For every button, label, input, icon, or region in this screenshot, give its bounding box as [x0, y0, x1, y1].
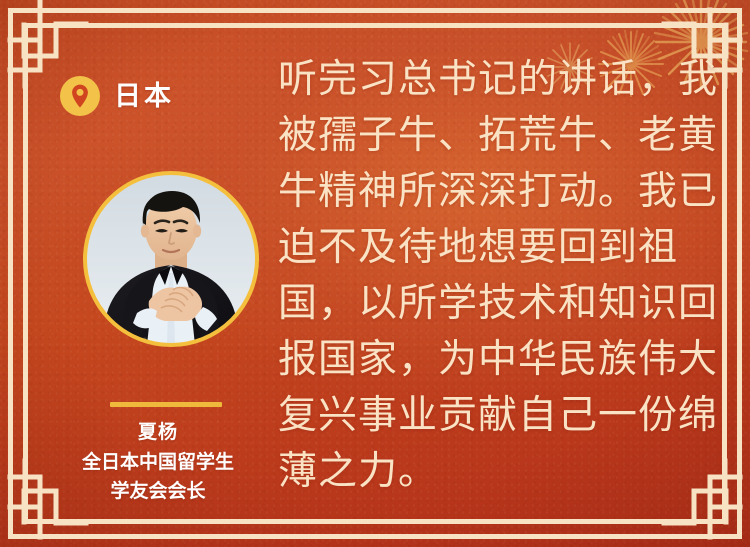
profile-column: 日本	[26, 30, 262, 517]
gold-divider	[110, 402, 222, 407]
location-label: 日本	[114, 83, 174, 110]
portrait-gold-ring	[83, 171, 259, 347]
person-title-line1: 全日本中国留学生	[26, 449, 290, 475]
poster-card: 日本	[0, 0, 750, 547]
portrait-container	[55, 171, 283, 405]
person-info: 夏杨 全日本中国留学生 学友会会长	[26, 420, 290, 504]
person-name: 夏杨	[26, 420, 290, 446]
map-pin-icon	[60, 76, 100, 116]
location-row: 日本	[60, 76, 174, 116]
quote-text: 听完习总书记的讲话，我被孺子牛、拓荒牛、老黄牛精神所深深打动。我已迫不及待地想要…	[278, 52, 726, 500]
person-title-line2: 学友会会长	[26, 478, 290, 504]
